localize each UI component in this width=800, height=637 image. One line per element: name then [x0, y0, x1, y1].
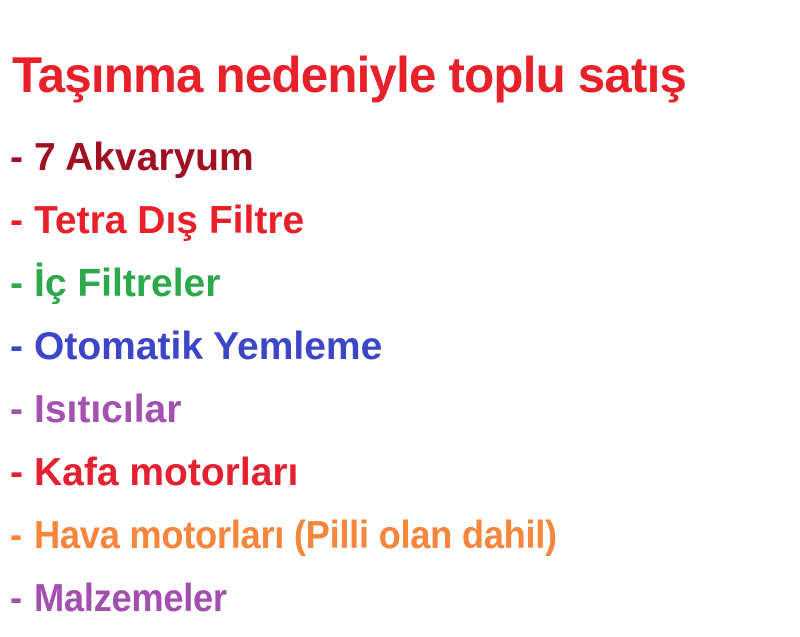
list-item-label: Isıtıcılar	[34, 378, 181, 441]
bullet-dash: -	[10, 315, 23, 378]
bullet-dash: -	[10, 252, 23, 315]
sale-poster: Taşınma nedeniyle toplu satış - 7 Akvary…	[0, 0, 800, 637]
bullet-dash: -	[10, 441, 23, 504]
list-item: - 7 Akvaryum	[0, 126, 800, 189]
list-item: - Tetra Dış Filtre	[0, 189, 800, 252]
list-item: - Isıtıcılar	[0, 378, 800, 441]
list-item-label: Hava motorları (Pilli olan dahil)	[34, 504, 557, 567]
list-item: - Hava motorları (Pilli olan dahil)	[0, 504, 800, 567]
list-item: - Malzemeler	[0, 567, 800, 630]
list-item-label: Tetra Dış Filtre	[34, 189, 304, 252]
sale-item-list: - 7 Akvaryum - Tetra Dış Filtre - İç Fil…	[0, 126, 800, 630]
bullet-dash: -	[10, 504, 22, 567]
page-title: Taşınma nedeniyle toplu satış	[12, 46, 788, 104]
list-item-label: Otomatik Yemleme	[34, 315, 382, 378]
list-item-label: İç Filtreler	[34, 252, 220, 315]
bullet-dash: -	[10, 567, 22, 630]
list-item: - İç Filtreler	[0, 252, 800, 315]
list-item-label: 7 Akvaryum	[34, 126, 254, 189]
list-item-label: Kafa motorları	[34, 441, 298, 504]
list-item: - Otomatik Yemleme	[0, 315, 800, 378]
bullet-dash: -	[10, 189, 23, 252]
bullet-dash: -	[10, 378, 23, 441]
bullet-dash: -	[10, 126, 23, 189]
list-item-label: Malzemeler	[34, 567, 227, 630]
list-item: - Kafa motorları	[0, 441, 800, 504]
